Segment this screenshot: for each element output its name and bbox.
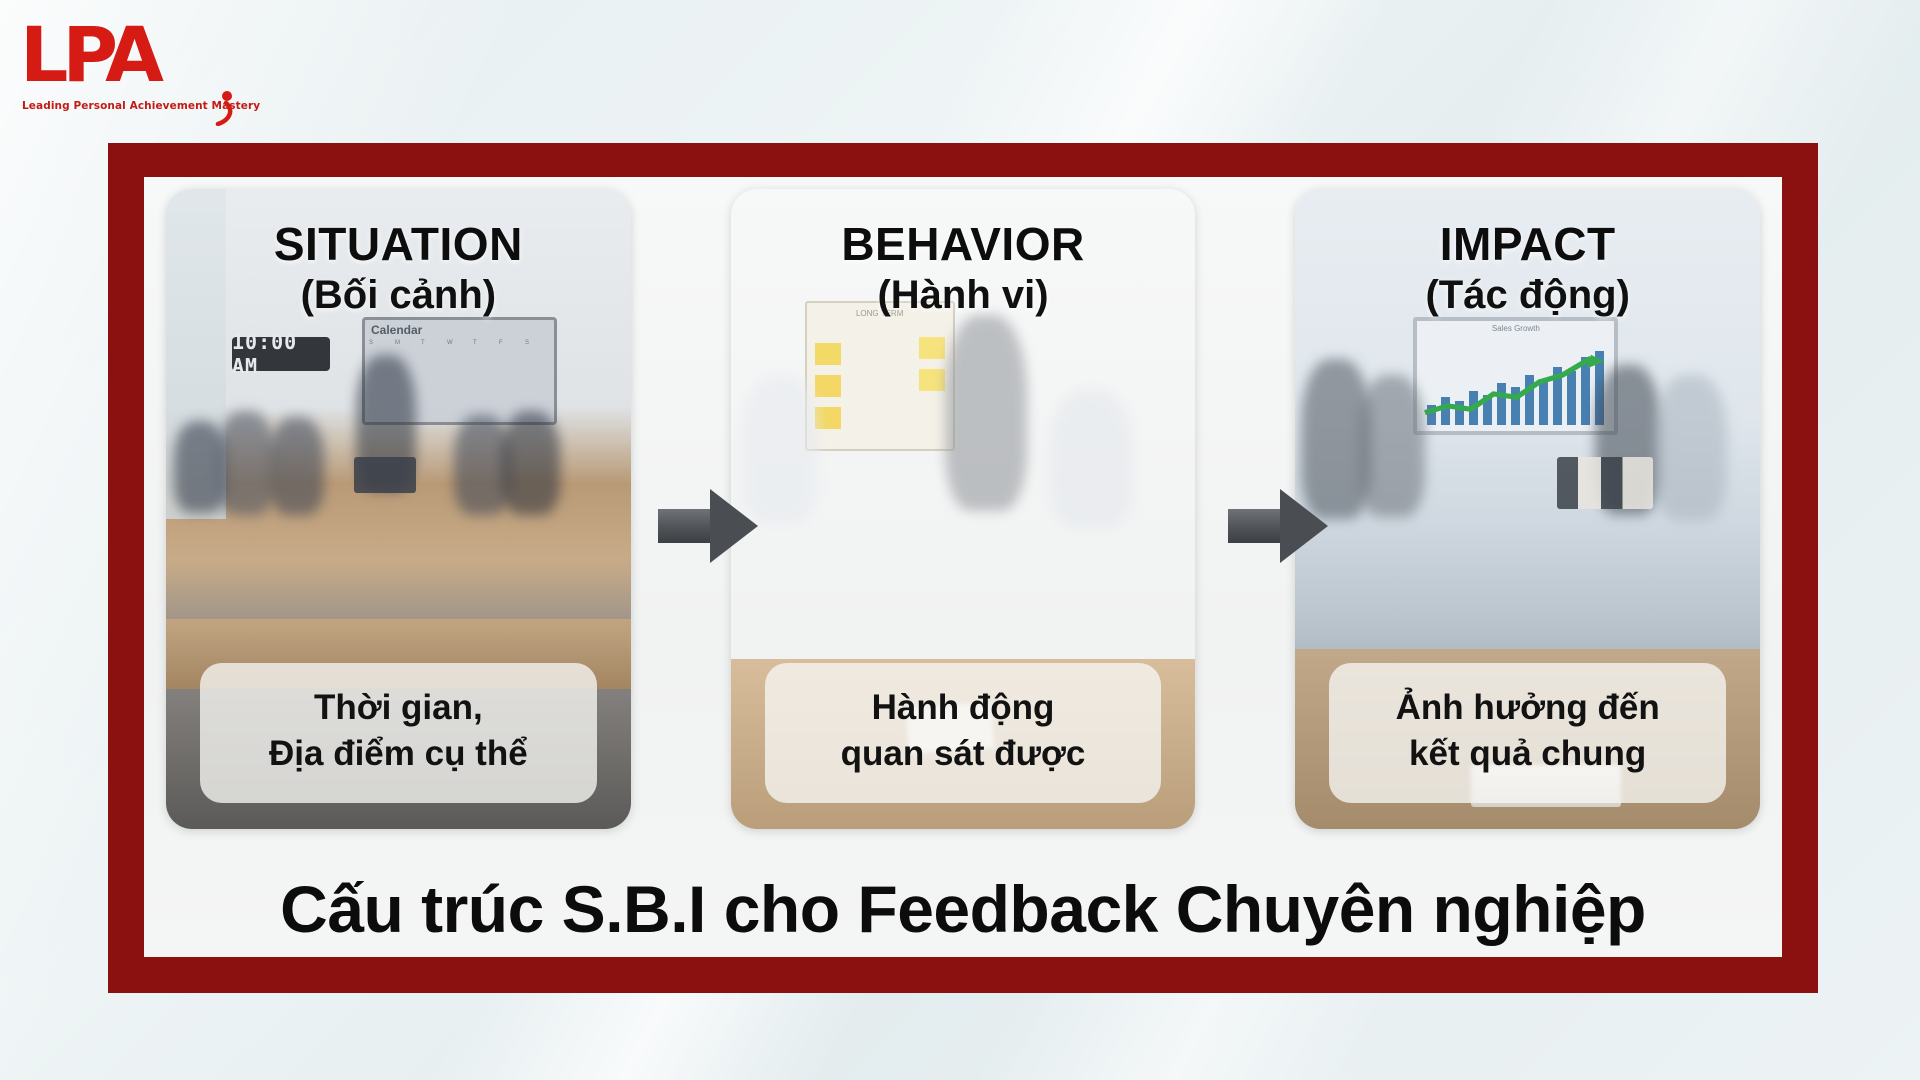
panel-behavior-caption-line2: quan sát được	[779, 731, 1148, 777]
person-silhouette	[1359, 375, 1425, 517]
logo-wordmark: LPA	[20, 16, 200, 94]
panel-impact-caption-line1: Ảnh hưởng đến	[1343, 685, 1712, 731]
whiteboard: LONG TERM	[805, 301, 955, 451]
laptop	[354, 457, 416, 493]
trend-line-icon	[1423, 353, 1604, 421]
panel-impact-header: IMPACT (Tác động)	[1295, 217, 1760, 318]
panel-situation-caption: Thời gian, Địa điểm cụ thể	[200, 663, 597, 803]
panel-behavior-caption: Hành động quan sát được	[765, 663, 1162, 803]
sbi-panels: Calendar SMTWTFS 10:00 AM	[166, 189, 1760, 829]
digital-clock: 10:00 AM	[232, 337, 330, 371]
panel-situation-caption-line2: Địa điểm cụ thể	[214, 731, 583, 777]
arrow-behavior-to-impact	[1228, 489, 1328, 563]
person-clapping	[1049, 389, 1133, 529]
growth-chart-monitor: Sales Growth	[1413, 317, 1618, 435]
panel-situation-header: SITUATION (Bối cảnh)	[166, 217, 631, 318]
panel-impact[interactable]: Sales Growth	[1295, 189, 1760, 829]
brand-logo: LPA Leading Personal Achievement Mastery	[14, 14, 244, 124]
binder-stack	[1557, 457, 1653, 509]
panel-behavior-caption-line1: Hành động	[779, 685, 1148, 731]
person-silhouette	[1655, 375, 1727, 521]
panel-impact-subtitle: (Tác động)	[1295, 273, 1760, 318]
slide-frame: Calendar SMTWTFS 10:00 AM	[108, 143, 1818, 993]
panel-situation-title: SITUATION	[166, 217, 631, 271]
person-presenter	[945, 315, 1027, 511]
panel-behavior-header: BEHAVIOR (Hành vi)	[731, 217, 1196, 318]
person-swoosh-icon	[212, 90, 238, 126]
person-silhouette	[502, 411, 560, 515]
panel-impact-caption-line2: kết quả chung	[1343, 731, 1712, 777]
arrow-head-icon	[710, 489, 758, 563]
slide-canvas: Calendar SMTWTFS 10:00 AM	[144, 177, 1782, 957]
panel-situation-caption-line1: Thời gian,	[214, 685, 583, 731]
panel-situation[interactable]: Calendar SMTWTFS 10:00 AM	[166, 189, 631, 829]
person-silhouette	[270, 417, 324, 515]
arrow-situation-to-behavior	[658, 489, 758, 563]
arrow-shaft	[658, 509, 716, 543]
panel-impact-caption: Ảnh hưởng đến kết quả chung	[1329, 663, 1726, 803]
panel-impact-title: IMPACT	[1295, 217, 1760, 271]
panel-behavior[interactable]: LONG TERM BEHAVIOR (Hành vi)	[731, 189, 1196, 829]
person-silhouette	[218, 411, 274, 515]
panel-behavior-subtitle: (Hành vi)	[731, 273, 1196, 318]
slide-caption: Cấu trúc S.B.I cho Feedback Chuyên nghiệ…	[144, 871, 1782, 947]
panel-behavior-title: BEHAVIOR	[731, 217, 1196, 271]
arrow-head-icon	[1280, 489, 1328, 563]
logo-tagline: Leading Personal Achievement Mastery	[22, 100, 237, 112]
panel-situation-subtitle: (Bối cảnh)	[166, 273, 631, 318]
arrow-shaft	[1228, 509, 1286, 543]
